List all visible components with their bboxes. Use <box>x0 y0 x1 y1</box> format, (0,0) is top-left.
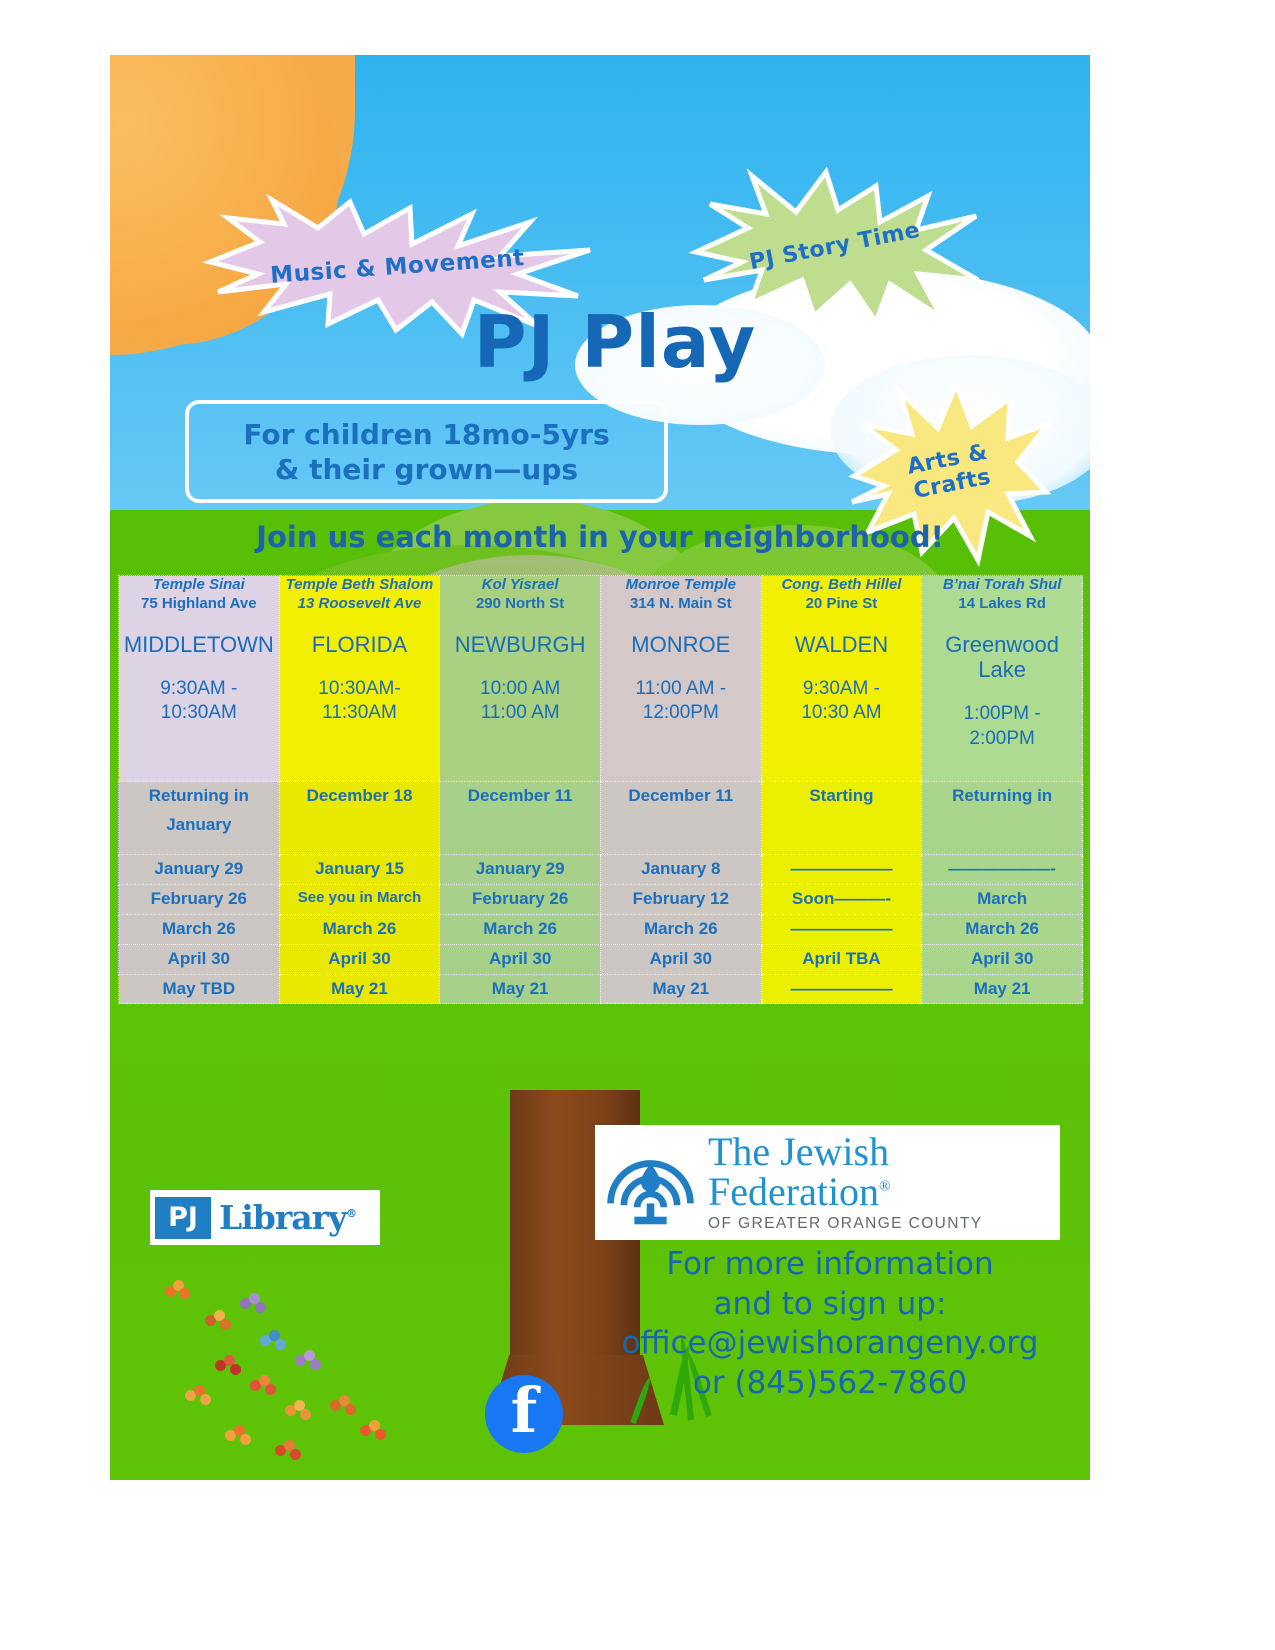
table-row: February 26 See you in March February 26… <box>119 884 1083 914</box>
schedule-cell: ——————- <box>922 855 1083 885</box>
location-city: MIDDLETOWN <box>119 632 279 657</box>
federation-text: The Jewish Federation® OF GREATER ORANGE… <box>708 1132 1060 1233</box>
schedule-cell: February 12 <box>600 884 761 914</box>
location-city: MONROE <box>601 632 761 657</box>
schedule-cell: May 21 <box>279 974 440 1004</box>
pj-library-wordmark: Library® <box>219 1198 356 1237</box>
schedule-cell: Starting <box>761 782 922 855</box>
schedule-cell: January 29 <box>440 855 601 885</box>
schedule-cell: March 26 <box>279 914 440 944</box>
facebook-glyph: f <box>511 1382 538 1441</box>
location-time: 9:30AM - 10:30 AM <box>762 677 922 726</box>
location-city: Greenwood Lake <box>922 632 1082 683</box>
location-city: WALDEN <box>762 632 922 657</box>
location-org: Cong. Beth Hillel <box>762 576 922 595</box>
flyer-poster: Music & Movement PJ Story Time Arts & Cr… <box>110 55 1090 1480</box>
flower-icon <box>205 1310 231 1336</box>
federation-line-2: OF GREATER ORANGE COUNTY <box>708 1215 1060 1233</box>
pj-library-word: Library <box>219 1198 346 1237</box>
location-address: 20 Pine St <box>762 595 922 614</box>
location-address: 13 Roosevelt Ave <box>280 595 440 614</box>
flower-icon <box>275 1440 301 1466</box>
age-range-box: For children 18mo-5yrs & their grown—ups <box>185 400 668 503</box>
flower-icon <box>250 1375 276 1401</box>
location-header-1: Temple Beth Shalom 13 Roosevelt Ave FLOR… <box>279 576 440 782</box>
schedule-cell: —————— <box>761 974 922 1004</box>
jewish-federation-logo: The Jewish Federation® OF GREATER ORANGE… <box>595 1125 1060 1240</box>
table-row: Returning in January December 18 Decembe… <box>119 782 1083 855</box>
schedule-cell: February 26 <box>119 884 280 914</box>
schedule-cell: January 8 <box>600 855 761 885</box>
schedule-cell: Returning in <box>922 782 1083 855</box>
contact-email[interactable]: office@jewishorangeny.org <box>580 1324 1080 1364</box>
menorah-icon <box>603 1135 698 1230</box>
location-address: 314 N. Main St <box>601 595 761 614</box>
contact-phone[interactable]: or (845)562-7860 <box>580 1364 1080 1404</box>
location-org: B’nai Torah Shul <box>922 576 1082 595</box>
location-header-2: Kol Yisrael 290 North St NEWBURGH 10:00 … <box>440 576 601 782</box>
page-title: PJ Play <box>440 300 790 384</box>
flower-icon <box>215 1355 241 1381</box>
schedule-cell: April TBA <box>761 944 922 974</box>
schedule-cell: March <box>922 884 1083 914</box>
schedule-cell: January 15 <box>279 855 440 885</box>
age-line-2: & their grown—ups <box>275 452 578 487</box>
schedule-cell: April 30 <box>279 944 440 974</box>
table-row: March 26 March 26 March 26 March 26 ————… <box>119 914 1083 944</box>
table-row: May TBD May 21 May 21 May 21 —————— May … <box>119 974 1083 1004</box>
schedule-cell: March 26 <box>440 914 601 944</box>
flower-icon <box>185 1385 211 1411</box>
schedule-table: Temple Sinai 75 Highland Ave MIDDLETOWN … <box>118 575 1083 1004</box>
contact-line-2: and to sign up: <box>580 1285 1080 1325</box>
location-org: Temple Sinai <box>119 576 279 595</box>
join-line: Join us each month in your neighborhood! <box>110 520 1090 554</box>
schedule-cell: —————— <box>761 914 922 944</box>
pj-library-logo: PJ Library® <box>150 1190 380 1245</box>
schedule-cell: February 26 <box>440 884 601 914</box>
pj-library-registered: ® <box>346 1207 356 1220</box>
schedule-cell: December 11 <box>600 782 761 855</box>
federation-registered: ® <box>879 1179 890 1195</box>
table-row: January 29 January 15 January 29 January… <box>119 855 1083 885</box>
schedule-cell: May TBD <box>119 974 280 1004</box>
schedule-cell: See you in March <box>279 884 440 914</box>
schedule-cell: March 26 <box>119 914 280 944</box>
flower-icon <box>295 1350 321 1376</box>
schedule-cell: April 30 <box>922 944 1083 974</box>
location-city: FLORIDA <box>280 632 440 657</box>
schedule-cell: Soon———- <box>761 884 922 914</box>
contact-line-1: For more information <box>580 1245 1080 1285</box>
flower-icon <box>285 1400 311 1426</box>
schedule-cell: April 30 <box>440 944 601 974</box>
flower-icon <box>225 1425 251 1451</box>
location-address: 290 North St <box>440 595 600 614</box>
location-time: 1:00PM - 2:00PM <box>922 702 1082 751</box>
schedule-cell: Returning in January <box>119 782 280 855</box>
schedule-cell: December 11 <box>440 782 601 855</box>
location-org: Monroe Temple <box>601 576 761 595</box>
age-line-1: For children 18mo-5yrs <box>243 417 609 452</box>
location-address: 14 Lakes Rd <box>922 595 1082 614</box>
schedule-cell: May 21 <box>600 974 761 1004</box>
schedule-cell: —————— <box>761 855 922 885</box>
location-time: 11:00 AM - 12:00PM <box>601 677 761 726</box>
location-time: 10:30AM- 11:30AM <box>280 677 440 726</box>
schedule-cell: March 26 <box>922 914 1083 944</box>
location-header-5: B’nai Torah Shul 14 Lakes Rd Greenwood L… <box>922 576 1083 782</box>
table-row: April 30 April 30 April 30 April 30 Apri… <box>119 944 1083 974</box>
location-time: 10:00 AM 11:00 AM <box>440 677 600 726</box>
schedule-cell: March 26 <box>600 914 761 944</box>
flower-icon <box>330 1395 356 1421</box>
contact-block: For more information and to sign up: off… <box>580 1245 1080 1404</box>
location-header-3: Monroe Temple 314 N. Main St MONROE 11:0… <box>600 576 761 782</box>
schedule-cell: April 30 <box>119 944 280 974</box>
flower-icon <box>260 1330 286 1356</box>
location-city: NEWBURGH <box>440 632 600 657</box>
facebook-icon[interactable]: f <box>485 1375 563 1453</box>
schedule-cell: January 29 <box>119 855 280 885</box>
flower-icon <box>240 1293 266 1319</box>
schedule-cell: December 18 <box>279 782 440 855</box>
location-time: 9:30AM - 10:30AM <box>119 677 279 726</box>
location-header-4: Cong. Beth Hillel 20 Pine St WALDEN 9:30… <box>761 576 922 782</box>
schedule-cell: May 21 <box>922 974 1083 1004</box>
flower-icon <box>165 1280 191 1306</box>
flower-icon <box>360 1420 386 1446</box>
location-org: Temple Beth Shalom <box>280 576 440 595</box>
schedule-cell: May 21 <box>440 974 601 1004</box>
location-org: Kol Yisrael <box>440 576 600 595</box>
federation-name: The Jewish Federation <box>708 1129 889 1214</box>
federation-line-1: The Jewish Federation® <box>708 1132 1060 1212</box>
location-header-0: Temple Sinai 75 Highland Ave MIDDLETOWN … <box>119 576 280 782</box>
table-header-row: Temple Sinai 75 Highland Ave MIDDLETOWN … <box>119 576 1083 782</box>
pj-library-badge: PJ <box>155 1197 211 1239</box>
location-address: 75 Highland Ave <box>119 595 279 614</box>
schedule-cell: April 30 <box>600 944 761 974</box>
